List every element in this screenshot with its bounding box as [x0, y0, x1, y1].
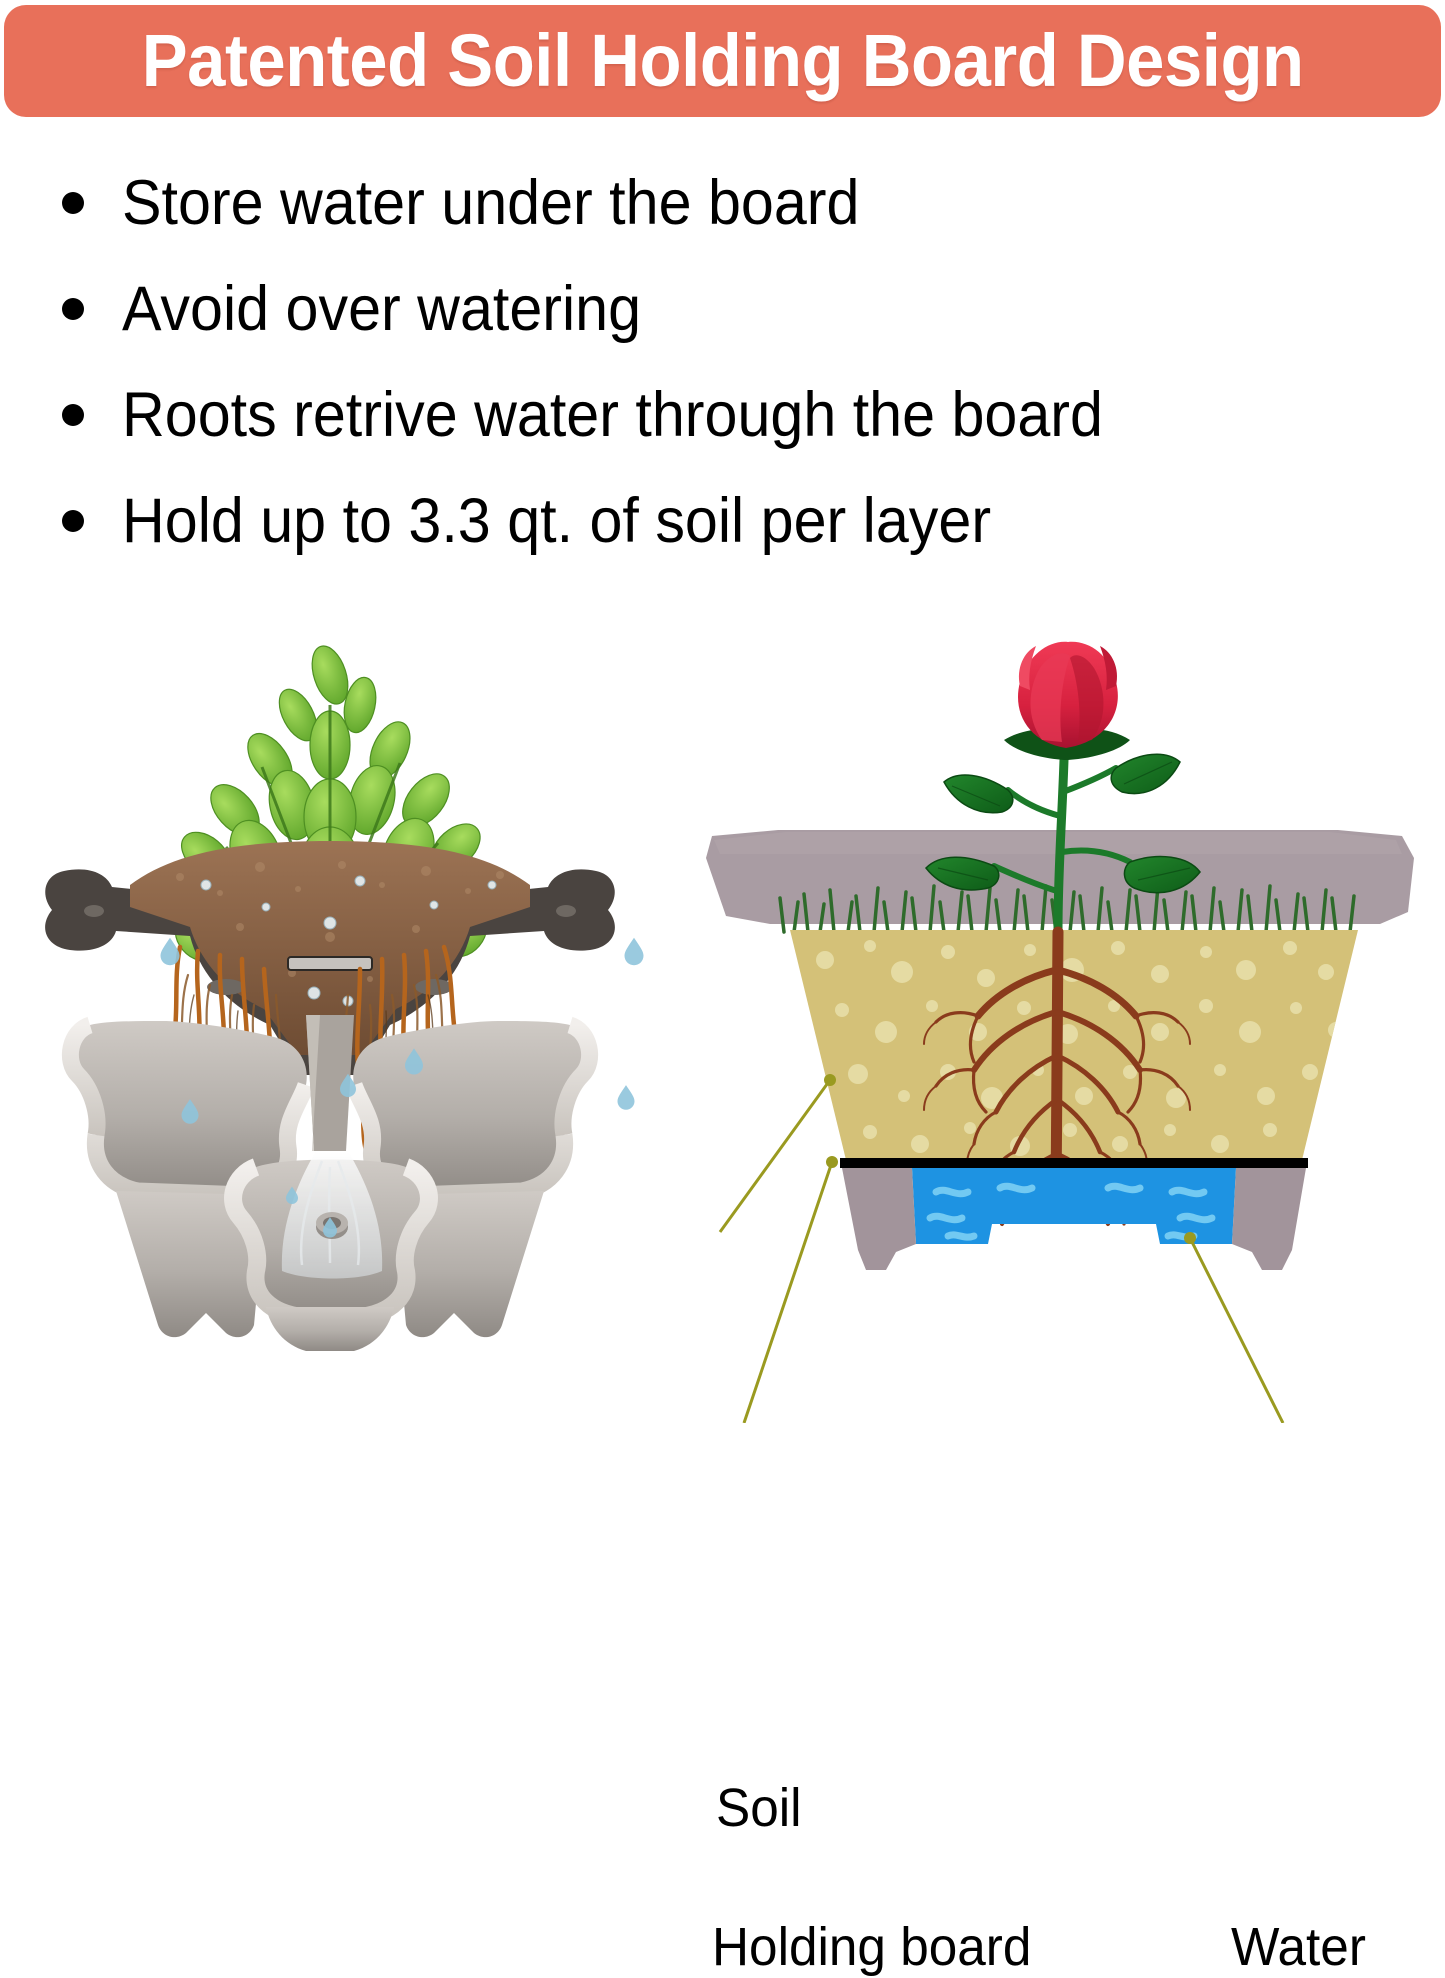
callout-label-holding-board: Holding board	[712, 1916, 1031, 1978]
stacking-planter-product-photo	[30, 555, 730, 1355]
feature-text: Store water under the board	[122, 172, 859, 235]
pot-cross-section-diagram	[690, 640, 1445, 1423]
feature-item: Roots retrive water through the board	[48, 362, 1408, 468]
feature-item: Store water under the board	[48, 150, 1408, 256]
bullet-dot-icon	[62, 192, 84, 214]
feature-text: Avoid over watering	[122, 278, 641, 341]
bullet-dot-icon	[62, 298, 84, 320]
header-banner: Patented Soil Holding Board Design	[4, 5, 1441, 117]
holding-board	[840, 1158, 1308, 1168]
figures-row: Soil Holding board Water	[0, 555, 1445, 1423]
feature-item: Avoid over watering	[48, 256, 1408, 362]
feature-list: Store water under the board Avoid over w…	[48, 150, 1408, 574]
callout-label-water: Water	[1231, 1916, 1366, 1978]
red-rose-plant	[926, 642, 1200, 930]
callout-label-soil: Soil	[716, 1777, 802, 1839]
bullet-dot-icon	[62, 404, 84, 426]
bullet-dot-icon	[62, 510, 84, 532]
page-title: Patented Soil Holding Board Design	[142, 24, 1304, 98]
feature-text: Roots retrive water through the board	[122, 384, 1103, 447]
feature-text: Hold up to 3.3 qt. of soil per layer	[122, 490, 991, 553]
soil	[790, 930, 1358, 1160]
